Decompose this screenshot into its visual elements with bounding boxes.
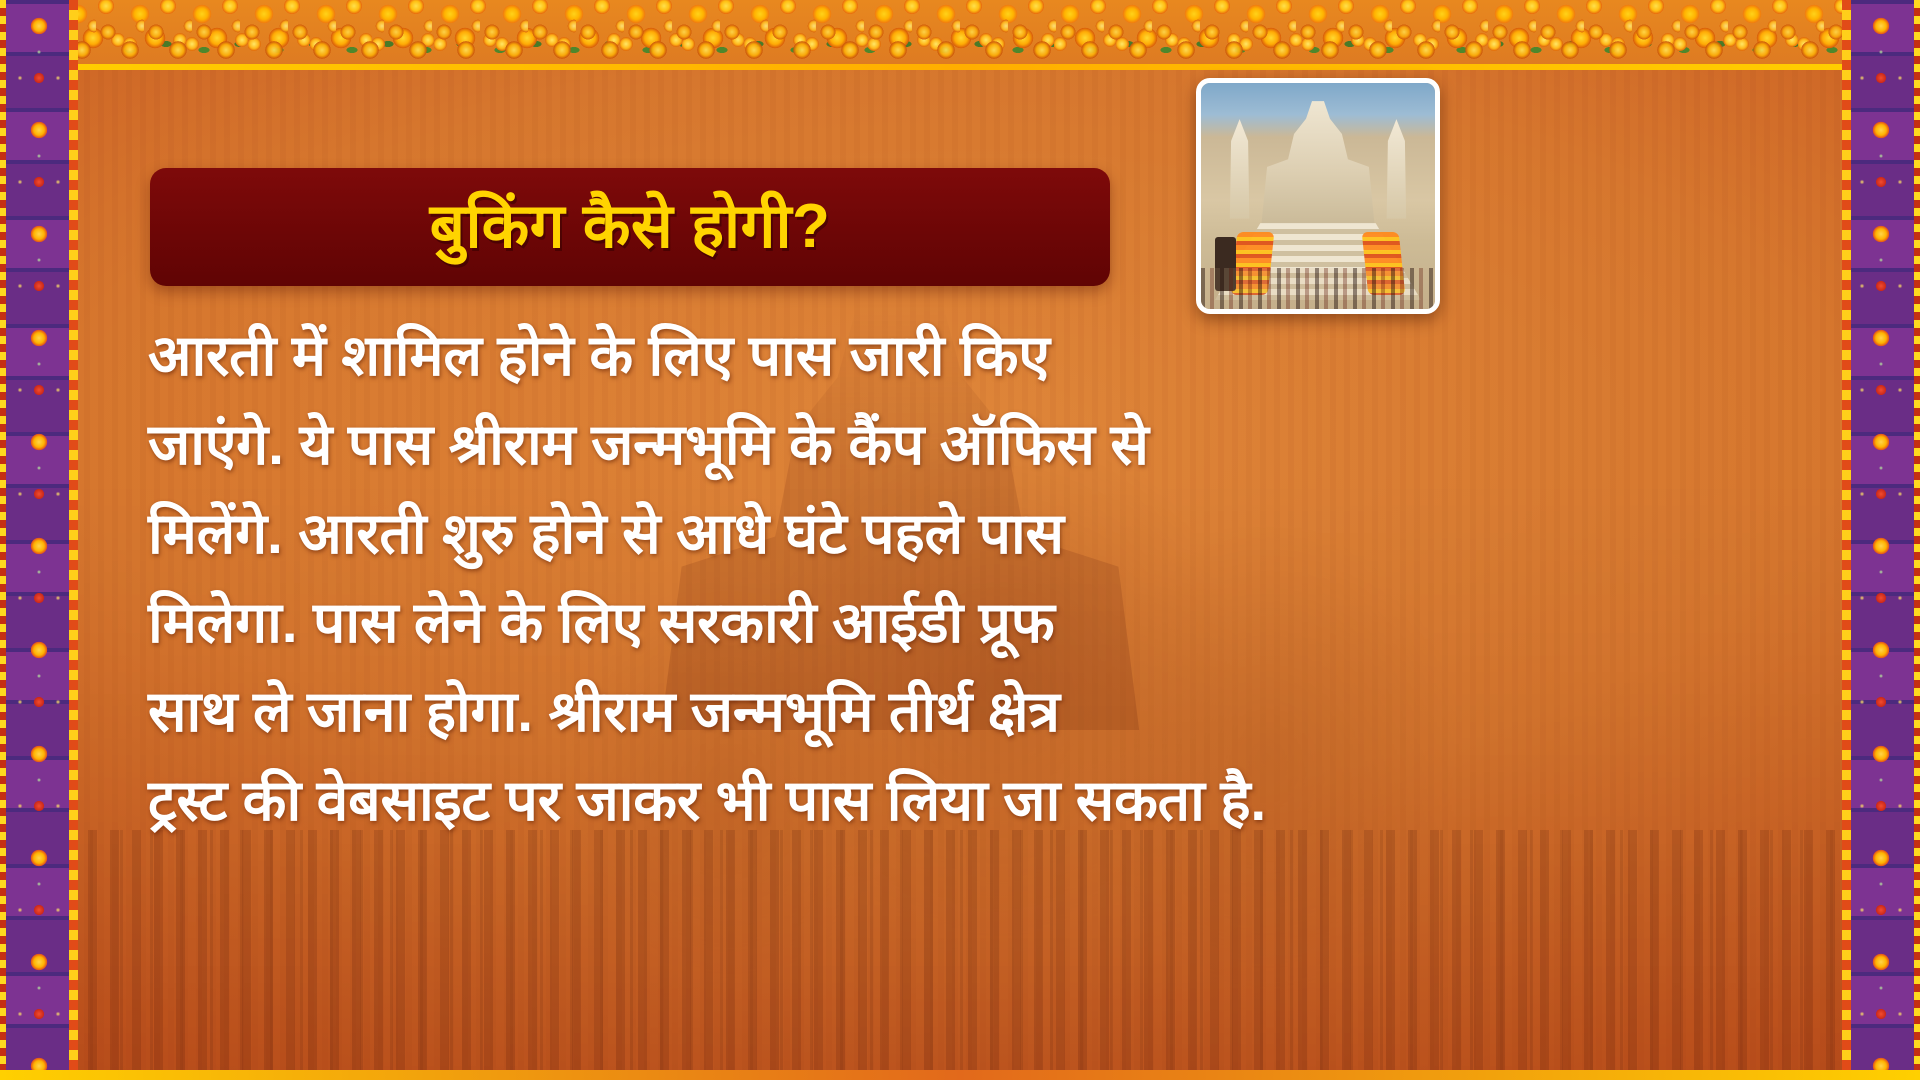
- right-pattern-border: [1842, 0, 1920, 1080]
- floral-motif-icon-left: [0, 0, 78, 1080]
- body-line-2: जाएंगे. ये पास श्रीराम जन्मभूमि के कैंप …: [148, 401, 1438, 490]
- temple-visitors: [1201, 268, 1435, 309]
- temple-main-shikhara: [1243, 101, 1393, 228]
- temple-tower-right: [1381, 119, 1411, 218]
- marigold-flower-icon-secondary: [0, 16, 1920, 70]
- body-line-1: आरती में शामिल होने के लिए पास जारी किए: [148, 312, 1438, 401]
- left-pattern-border: [0, 0, 78, 1080]
- body-line-3: मिलेंगे. आरती शुरु होने से आधे घंटे पहले…: [148, 490, 1438, 579]
- body-text-block: आरती में शामिल होने के लिए पास जारी किए …: [148, 312, 1438, 846]
- page-title: बुकिंग कैसे होगी?: [430, 196, 831, 258]
- body-line-4: मिलेगा. पास लेने के लिए सरकारी आईडी प्रू…: [148, 579, 1438, 668]
- top-gold-rail: [0, 64, 1920, 70]
- temple-photo-image: [1201, 83, 1435, 309]
- floral-motif-icon-right: [1842, 0, 1920, 1080]
- left-outer-rail: [0, 0, 6, 1080]
- title-banner: बुकिंग कैसे होगी?: [150, 168, 1110, 286]
- bottom-gold-strip: [0, 1070, 1920, 1080]
- top-garland-border: [0, 0, 1920, 70]
- right-inner-rail: [1842, 0, 1851, 1080]
- right-outer-rail: [1914, 0, 1920, 1080]
- body-line-6: ट्रस्ट की वेबसाइट पर जाकर भी पास लिया जा…: [148, 757, 1438, 846]
- temple-tower-left: [1224, 119, 1254, 218]
- info-graphic-card: बुकिंग कैसे होगी? आरती में शामिल होने के…: [0, 0, 1920, 1080]
- left-inner-rail: [69, 0, 78, 1080]
- background-crowd-texture: [0, 830, 1920, 1080]
- body-line-5: साथ ले जाना होगा. श्रीराम जन्मभूमि तीर्थ…: [148, 668, 1438, 757]
- temple-photo: [1196, 78, 1440, 314]
